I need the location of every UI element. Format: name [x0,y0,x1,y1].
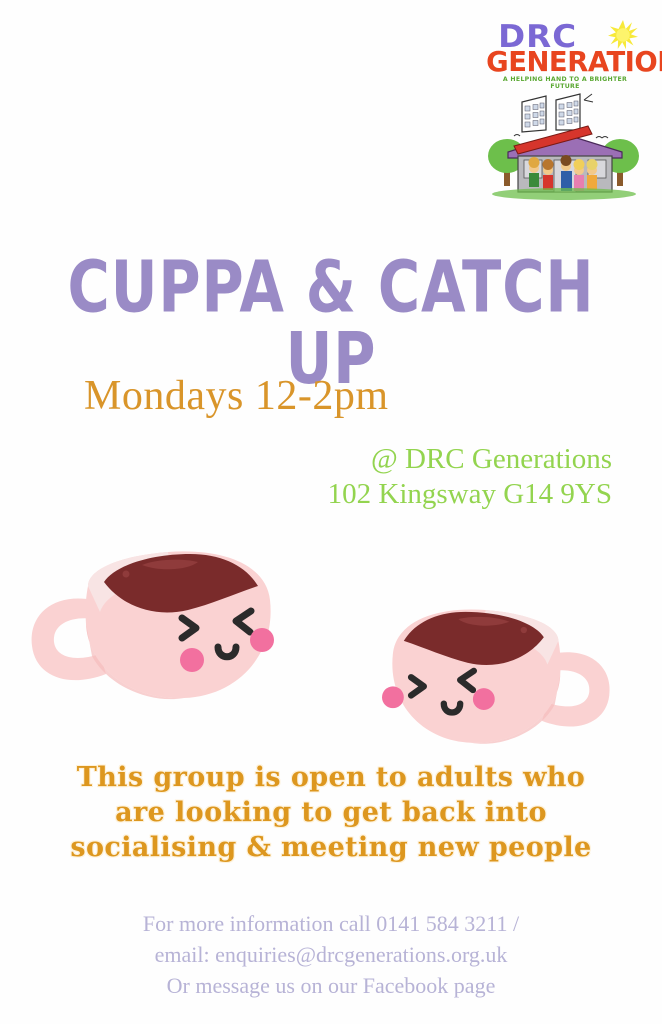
description-text: This group is open to adults who are loo… [0,760,662,865]
description-line-3: socialising & meeting new people [0,830,662,865]
community-centre-illustration [484,90,644,202]
logo-generations-text: GENERATIONS [486,48,662,76]
drc-generations-logo: DRC GENERATIONS A HELPING HAND TO A BRIG… [484,22,644,207]
contact-footer: For more information call 0141 584 3211 … [0,908,662,1002]
cup-left-handle [22,508,322,728]
description-line-2: are looking to get back into [0,795,662,830]
contact-facebook-line: Or message us on our Facebook page [0,970,662,1001]
cup-illustrations [0,498,662,760]
contact-phone-line: For more information call 0141 584 3211 … [0,908,662,939]
contact-email-line: email: enquiries@drcgenerations.org.uk [0,939,662,970]
venue-name: @ DRC Generations [0,442,612,477]
description-line-1: This group is open to adults who [0,760,662,795]
logo-wordmark: DRC GENERATIONS A HELPING HAND TO A BRIG… [484,22,644,84]
cup-right-handle [342,570,622,770]
schedule-time: Mondays 12-2pm [84,375,389,417]
logo-tagline: A HELPING HAND TO A BRIGHTER FUTURE [490,76,640,90]
